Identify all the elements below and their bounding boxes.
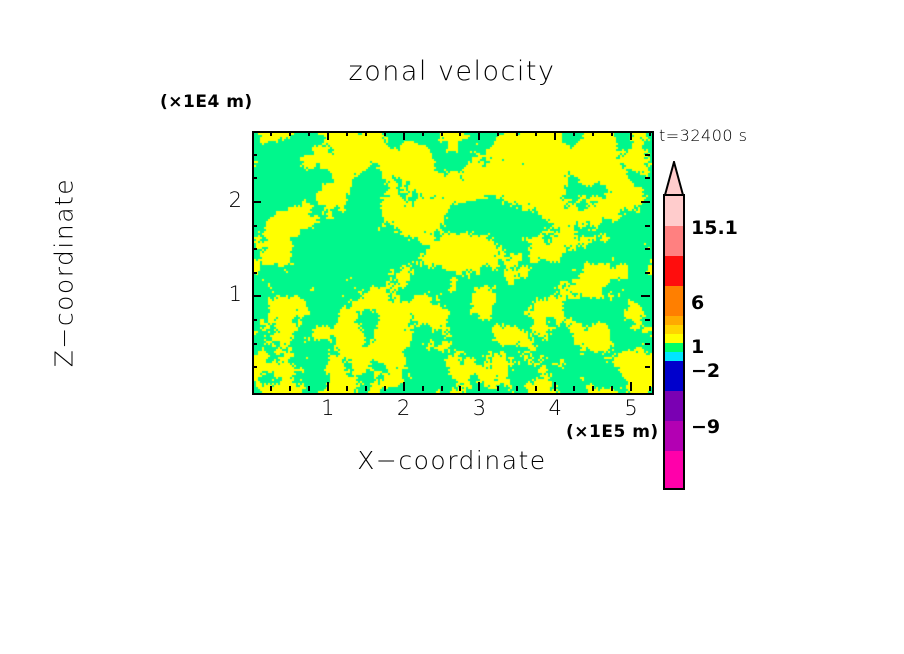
y-tick-minor-right	[645, 272, 650, 274]
plot-area	[252, 131, 654, 395]
y-tick-minor-right	[645, 366, 650, 368]
colorbar-band-6	[665, 334, 683, 343]
x-tick-label: 2	[384, 396, 424, 420]
x-tick-minor	[611, 386, 613, 391]
y-tick-label: 2	[202, 188, 242, 212]
heatmap-canvas	[254, 133, 652, 393]
x-tick-minor	[592, 386, 594, 391]
x-tick-minor-top	[289, 131, 291, 136]
y-tick-minor	[252, 248, 257, 250]
x-tick-minor	[384, 386, 386, 391]
x-tick-minor-top	[459, 131, 461, 136]
colorbar-band-12	[665, 451, 683, 488]
colorbar-band-1	[665, 226, 683, 256]
x-tick-minor	[497, 386, 499, 391]
y-axis-units-label: (×1E4 m)	[160, 92, 253, 112]
y-tick-minor	[252, 366, 257, 368]
y-tick-major-right	[641, 201, 650, 203]
colorbar-band-7	[665, 343, 683, 352]
colorbar-band-11	[665, 421, 683, 451]
y-tick-minor	[252, 177, 257, 179]
x-tick-minor	[270, 386, 272, 391]
x-tick-minor-top	[441, 131, 443, 136]
x-axis-units-label: (×1E5 m)	[566, 422, 659, 442]
x-tick-minor-top	[346, 131, 348, 136]
colorbar-bands	[663, 194, 685, 490]
colorbar-label-2: 1	[691, 336, 704, 358]
y-tick-minor-right	[645, 248, 650, 250]
x-tick-label: 3	[459, 396, 499, 420]
colorbar-band-0	[665, 196, 683, 226]
y-tick-minor	[252, 319, 257, 321]
x-tick-minor-top	[308, 131, 310, 136]
colorbar-label-4: −9	[691, 416, 720, 438]
x-tick-minor-top	[497, 131, 499, 136]
y-tick-minor	[252, 272, 257, 274]
colorbar-band-2	[665, 256, 683, 286]
colorbar-band-8	[665, 352, 683, 361]
y-tick-minor-right	[645, 319, 650, 321]
y-tick-minor	[252, 343, 257, 345]
y-tick-minor	[252, 225, 257, 227]
x-tick-minor-top	[592, 131, 594, 136]
x-tick-minor	[649, 386, 651, 391]
x-tick-label: 5	[611, 396, 651, 420]
y-tick-major-right	[641, 295, 650, 297]
x-tick-minor	[441, 386, 443, 391]
x-tick-minor-top	[535, 131, 537, 136]
x-tick-minor	[346, 386, 348, 391]
x-tick-major	[554, 382, 556, 391]
y-tick-minor-right	[645, 343, 650, 345]
x-tick-major-top	[630, 131, 632, 140]
colorbar-arrow-icon	[663, 161, 685, 196]
x-tick-major-top	[403, 131, 405, 140]
x-tick-minor-top	[649, 131, 651, 136]
time-annotation: t=32400 s	[659, 126, 748, 145]
colorbar-label-3: −2	[691, 360, 720, 382]
x-tick-major-top	[478, 131, 480, 140]
x-tick-label: 4	[535, 396, 575, 420]
y-tick-minor-right	[645, 225, 650, 227]
colorbar-label-0: 15.1	[691, 217, 738, 239]
colorbar-band-3	[665, 286, 683, 316]
y-tick-minor	[252, 154, 257, 156]
y-tick-minor-right	[645, 154, 650, 156]
x-tick-minor	[422, 386, 424, 391]
chart-title: zonal velocity	[0, 56, 904, 87]
colorbar-band-5	[665, 325, 683, 334]
x-tick-minor-top	[270, 131, 272, 136]
x-tick-major	[403, 382, 405, 391]
y-tick-label: 1	[202, 282, 242, 306]
x-tick-minor-top	[365, 131, 367, 136]
x-tick-label: 1	[308, 396, 348, 420]
x-tick-minor	[365, 386, 367, 391]
colorbar-band-10	[665, 391, 683, 421]
colorbar-band-4	[665, 316, 683, 325]
x-tick-major	[478, 382, 480, 391]
x-tick-minor	[573, 386, 575, 391]
y-tick-minor-right	[645, 177, 650, 179]
x-tick-minor	[289, 386, 291, 391]
y-axis-title: Z−coordinate	[50, 123, 79, 423]
colorbar-band-9	[665, 361, 683, 391]
app-root: { "figure": { "title": "zonal velocity",…	[0, 0, 904, 654]
x-tick-minor	[308, 386, 310, 391]
x-tick-minor-top	[516, 131, 518, 136]
y-tick-major	[252, 201, 261, 203]
x-axis-title: X−coordinate	[0, 446, 904, 475]
x-tick-major	[327, 382, 329, 391]
x-tick-major-top	[327, 131, 329, 140]
x-tick-major	[630, 382, 632, 391]
x-tick-minor	[516, 386, 518, 391]
x-tick-minor-top	[422, 131, 424, 136]
x-tick-major-top	[554, 131, 556, 140]
colorbar-label-1: 6	[691, 292, 704, 314]
x-tick-minor	[459, 386, 461, 391]
y-tick-major	[252, 295, 261, 297]
x-tick-minor-top	[384, 131, 386, 136]
x-tick-minor	[535, 386, 537, 391]
x-tick-minor-top	[611, 131, 613, 136]
x-tick-minor-top	[573, 131, 575, 136]
